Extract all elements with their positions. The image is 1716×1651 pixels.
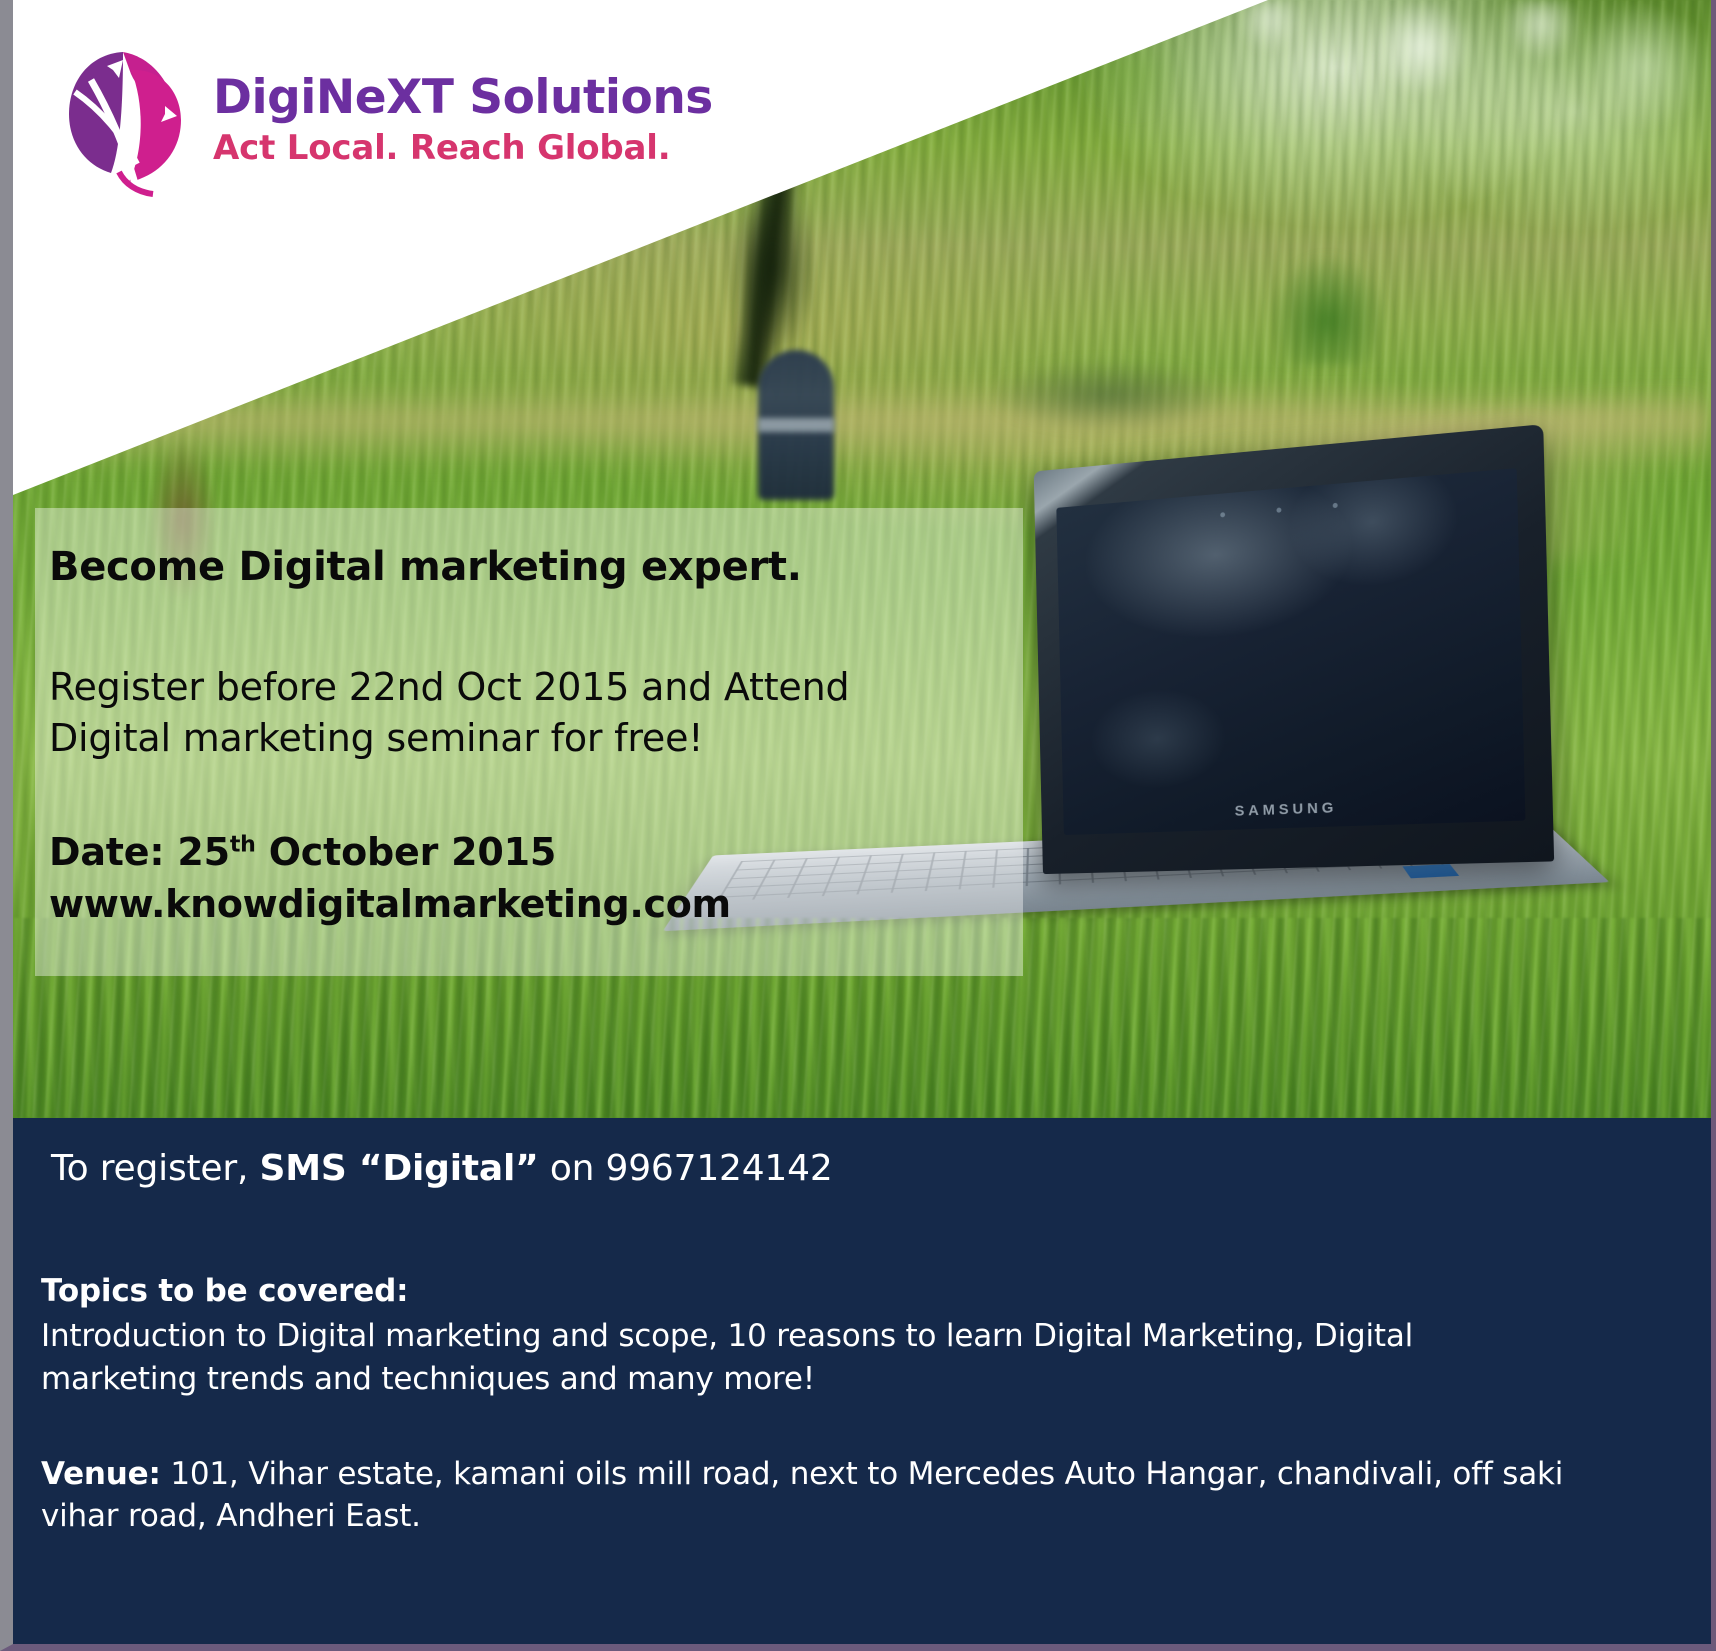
globe-arrows-logo-icon (61, 40, 191, 200)
brand-logo: DigiNeXT Solutions Act Local. Reach Glob… (61, 40, 713, 200)
footer-register-line: To register, SMS “Digital” on 9967124142 (51, 1148, 1681, 1189)
laptop-photo: SAMSUNG (1018, 448, 1578, 968)
hero-date-ordinal: th (230, 832, 256, 857)
footer-register-prefix: To register, (51, 1148, 259, 1189)
brand-tagline: Act Local. Reach Global. (213, 131, 713, 166)
laptop-webcam-icon (1220, 502, 1338, 518)
laptop-screen: SAMSUNG (1056, 468, 1525, 835)
garden-post-band (758, 418, 834, 432)
laptop-sticker (1402, 864, 1459, 878)
shrub-center (993, 360, 1223, 430)
hero-offer-line-1: Register before 22nd Oct 2015 and Attend (49, 665, 849, 709)
footer-topics-label: Topics to be covered: (41, 1273, 1681, 1309)
footer-venue-line: Venue: 101, Vihar estate, kamani oils mi… (41, 1453, 1601, 1539)
hero-date-prefix: Date: 25 (49, 830, 230, 874)
laptop-lid: SAMSUNG (1034, 424, 1554, 874)
brand-text: DigiNeXT Solutions Act Local. Reach Glob… (213, 74, 713, 166)
footer-venue-label: Venue: (41, 1456, 161, 1492)
brand-name: DigiNeXT Solutions (213, 74, 713, 123)
hero-date: Date: 25th October 2015 (49, 830, 1023, 874)
hero-offer: Register before 22nd Oct 2015 and Attend… (49, 662, 1023, 764)
hero-offer-line-2: Digital marketing seminar for free! (49, 716, 703, 760)
footer-topics-body: Introduction to Digital marketing and sc… (41, 1315, 1551, 1401)
footer-register-suffix: on 9967124142 (539, 1148, 833, 1189)
laptop-brand-label: SAMSUNG (1235, 799, 1338, 820)
hero-headline: Become Digital marketing expert. (49, 544, 1023, 590)
shrub-right (1268, 255, 1388, 365)
footer-venue-body: 101, Vihar estate, kamani oils mill road… (41, 1456, 1563, 1535)
hero-text-panel: Become Digital marketing expert. Registe… (35, 508, 1023, 976)
hero-website[interactable]: www.knowdigitalmarketing.com (49, 882, 1023, 926)
footer-details-panel: To register, SMS “Digital” on 9967124142… (13, 1118, 1711, 1644)
promotional-flyer: SAMSUNG (0, 0, 1716, 1651)
hero-date-suffix: October 2015 (256, 830, 556, 874)
footer-register-keyword: SMS “Digital” (259, 1148, 538, 1189)
